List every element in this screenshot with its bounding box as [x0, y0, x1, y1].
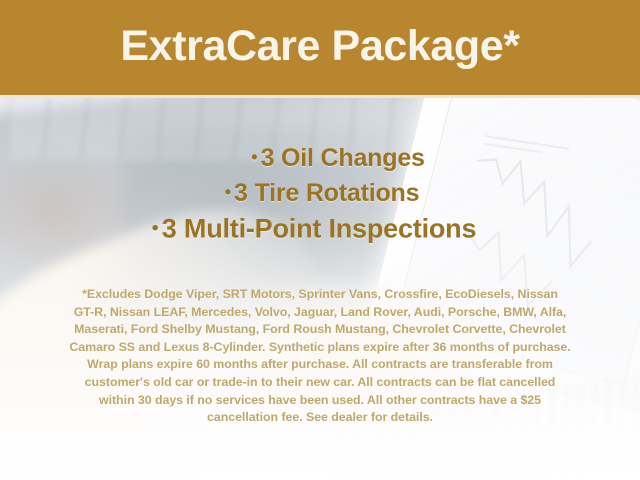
extracare-package-banner: ExtraCare Package* •3 Oil Changes •3 Tir… — [0, 0, 640, 480]
disclaimer-line: *Excludes Dodge Viper, SRT Motors, Sprin… — [14, 286, 626, 304]
disclaimer-text: *Excludes Dodge Viper, SRT Motors, Sprin… — [14, 286, 626, 427]
disclaimer-line: Camaro SS and Lexus 8-Cylinder. Syntheti… — [14, 339, 626, 357]
disclaimer-line: within 30 days if no services have been … — [14, 392, 626, 410]
offer-label: 3 Multi-Point Inspections — [162, 214, 477, 244]
bullet-dot-icon: • — [225, 182, 231, 202]
page-title: ExtraCare Package* — [0, 17, 640, 75]
bullet-dot-icon: • — [251, 147, 257, 167]
disclaimer-line: customer's old car or trade-in to their … — [14, 374, 626, 392]
offer-label: 3 Oil Changes — [261, 144, 425, 172]
offer-list-item: •3 Oil Changes — [0, 140, 640, 175]
disclaimer-line: cancellation fee. See dealer for details… — [14, 409, 626, 427]
bullet-dot-icon: • — [152, 217, 159, 239]
disclaimer-line: Maserati, Ford Shelby Mustang, Ford Rous… — [14, 321, 626, 339]
disclaimer-line: GT-R, Nissan LEAF, Mercedes, Volvo, Jagu… — [14, 304, 626, 322]
offer-list-item: •3 Tire Rotations — [0, 175, 640, 210]
offer-label: 3 Tire Rotations — [234, 179, 419, 207]
offer-list: •3 Oil Changes •3 Tire Rotations •3 Mult… — [0, 140, 640, 247]
disclaimer-line: Wrap plans expire 60 months after purcha… — [14, 356, 626, 374]
header-divider — [0, 95, 640, 98]
offer-list-item: •3 Multi-Point Inspections — [0, 210, 640, 246]
